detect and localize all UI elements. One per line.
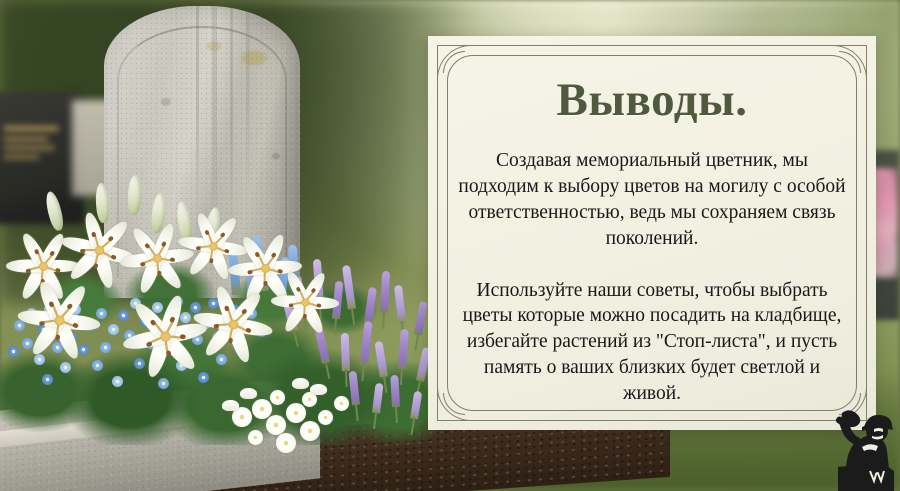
conclusion-card: Выводы. Создавая мемориальный цветник, м… xyxy=(428,36,876,430)
card-content: Выводы. Создавая мемориальный цветник, м… xyxy=(454,60,850,408)
lily-bloom xyxy=(271,268,339,336)
lily-bloom xyxy=(193,284,273,364)
card-paragraph-1: Создавая мемориальный цветник, мы подход… xyxy=(456,148,848,252)
stonemason-logo xyxy=(822,405,896,491)
card-title: Выводы. xyxy=(557,76,748,126)
image-canvas: Выводы. Создавая мемориальный цветник, м… xyxy=(0,0,900,491)
card-paragraph-2: Используйте наши советы, чтобы выбрать ц… xyxy=(456,278,848,408)
lily-bloom xyxy=(18,279,101,362)
